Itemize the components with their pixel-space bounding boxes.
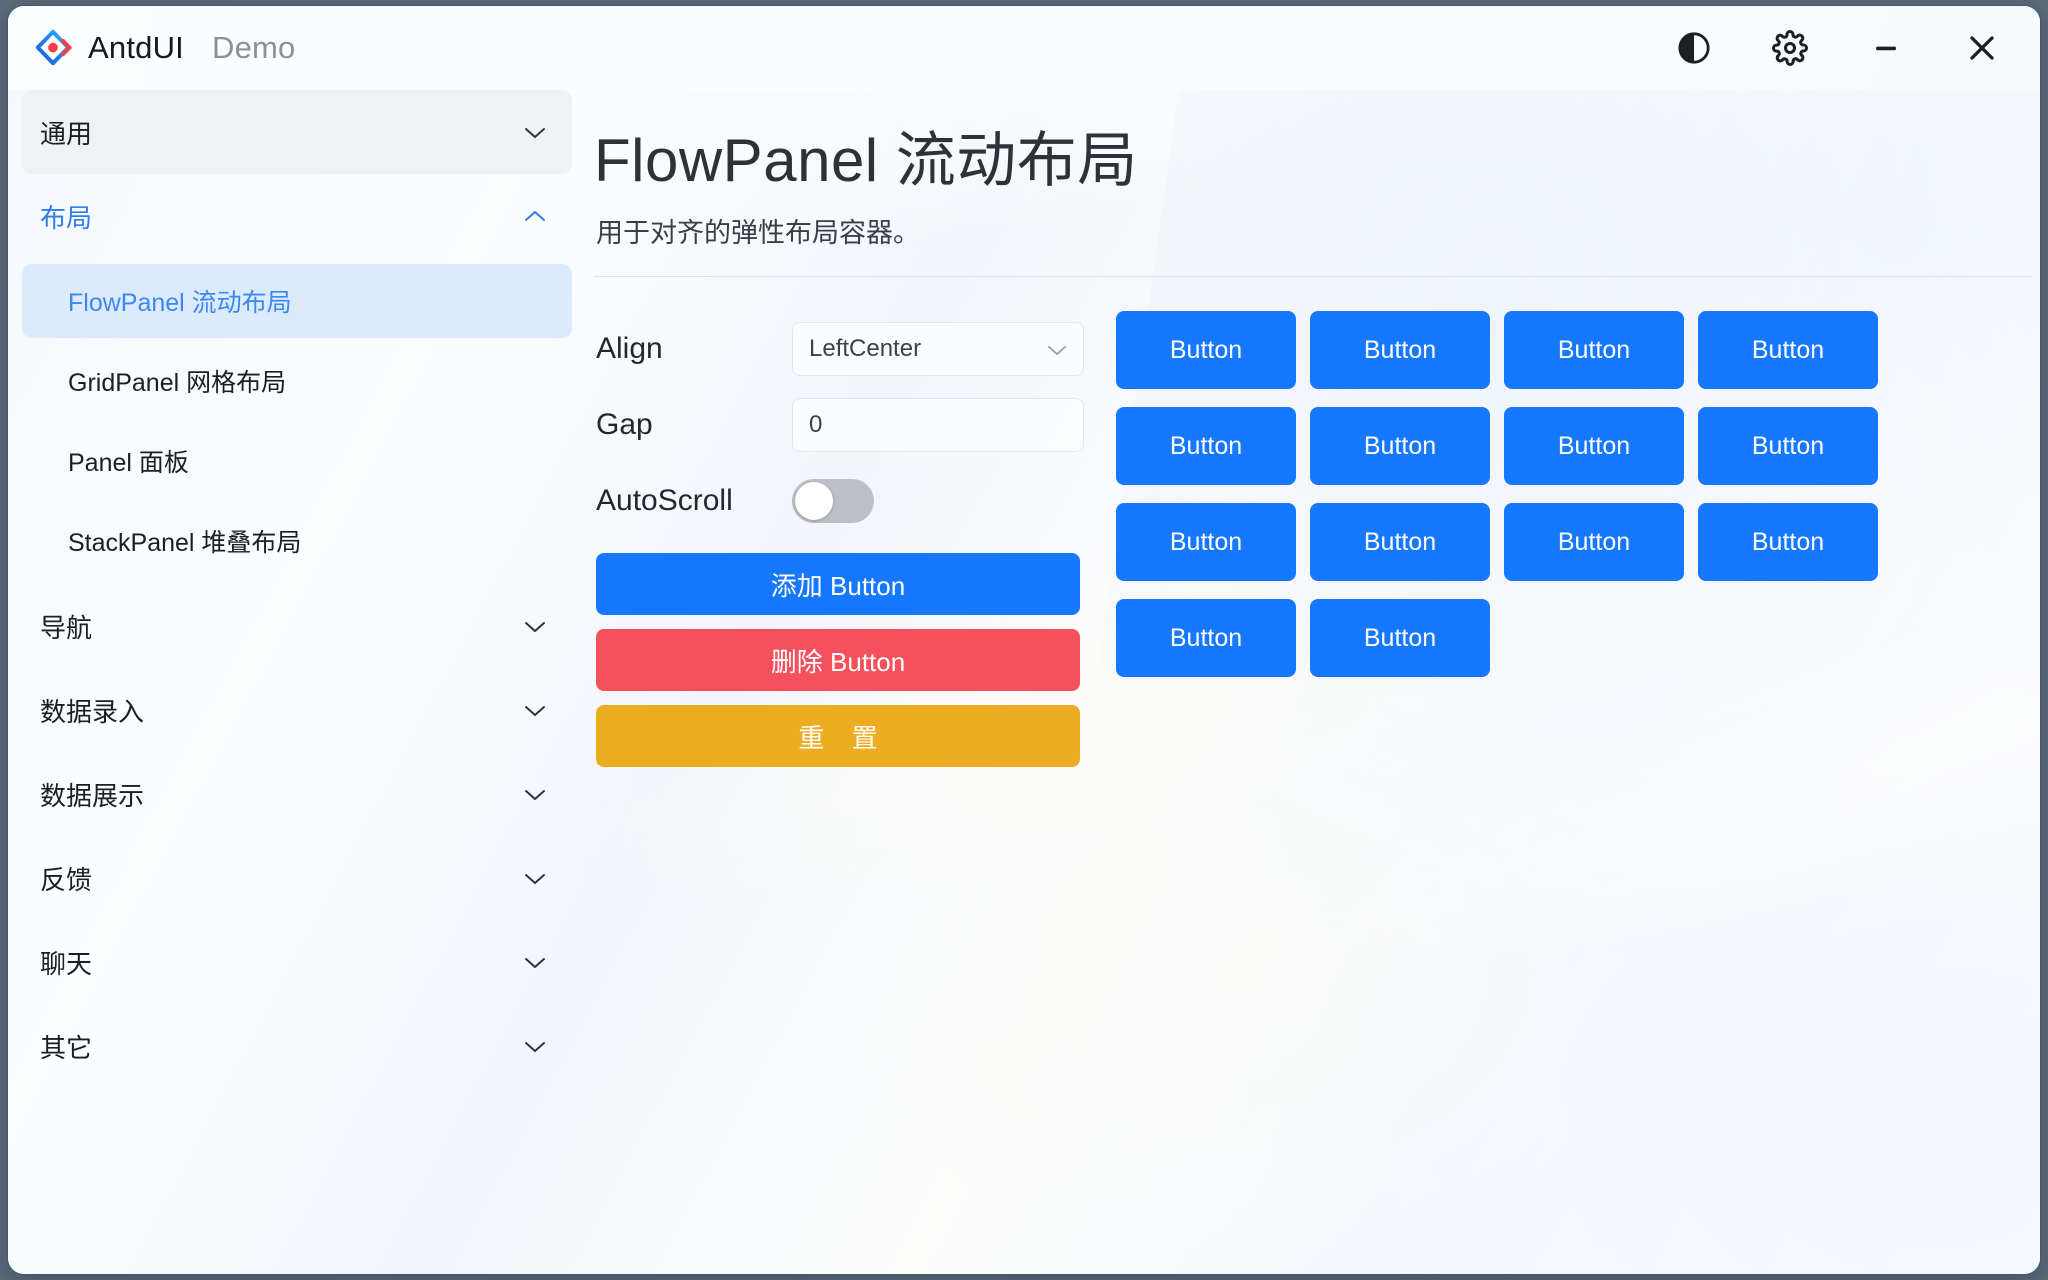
- reset-button[interactable]: 重 置: [596, 705, 1080, 767]
- sidebar-item-label: FlowPanel 流动布局: [68, 283, 292, 319]
- action-buttons: 添加 Button 删除 Button 重 置: [596, 553, 1086, 767]
- flow-button[interactable]: Button: [1116, 311, 1296, 389]
- sidebar-item-label: GridPanel 网格布局: [68, 363, 286, 399]
- brand-suffix: Demo: [212, 30, 296, 66]
- title-bar: AntdUI Demo: [8, 6, 2040, 90]
- sidebar-group-label: 数据展示: [40, 776, 524, 813]
- close-button[interactable]: [1934, 15, 2030, 81]
- flow-button[interactable]: Button: [1116, 407, 1296, 485]
- window-controls: [1646, 15, 2040, 81]
- brand-name: AntdUI: [88, 30, 184, 66]
- sidebar: 通用 布局 FlowPanel 流动布局 GridPanel 网格布局 Pane…: [8, 90, 586, 1274]
- flow-button[interactable]: Button: [1310, 599, 1490, 677]
- sidebar-group-other[interactable]: 其它: [22, 1004, 572, 1088]
- settings-button[interactable]: [1742, 15, 1838, 81]
- antdui-diamond-logo-icon: [34, 29, 72, 67]
- add-button-button[interactable]: 添加 Button: [596, 553, 1080, 615]
- align-select-value: LeftCenter: [809, 335, 1047, 363]
- sidebar-group-data-display[interactable]: 数据展示: [22, 752, 572, 836]
- flow-button[interactable]: Button: [1698, 407, 1878, 485]
- theme-toggle-button[interactable]: [1646, 15, 1742, 81]
- flow-button[interactable]: Button: [1116, 599, 1296, 677]
- sidebar-item-label: Panel 面板: [68, 443, 189, 479]
- sidebar-group-label: 聊天: [40, 944, 524, 981]
- main-content: FlowPanel 流动布局 用于对齐的弹性布局容器。 Align LeftCe…: [586, 90, 2040, 1274]
- chevron-down-icon: [1047, 335, 1067, 363]
- sidebar-group-label: 导航: [40, 608, 524, 645]
- settings-form: Align LeftCenter Gap 0 AutoScroll: [586, 311, 1086, 781]
- sidebar-item-stackpanel[interactable]: StackPanel 堆叠布局: [22, 504, 572, 578]
- gap-label: Gap: [596, 408, 792, 442]
- chevron-down-icon: [524, 872, 546, 885]
- flow-button[interactable]: Button: [1116, 503, 1296, 581]
- toggle-knob: [795, 482, 833, 520]
- gear-icon: [1772, 30, 1808, 66]
- align-row: Align LeftCenter: [596, 311, 1086, 387]
- sidebar-group-label: 其它: [40, 1028, 524, 1065]
- half-circle-contrast-icon: [1677, 31, 1711, 65]
- flow-button[interactable]: Button: [1698, 503, 1878, 581]
- flow-button[interactable]: Button: [1504, 503, 1684, 581]
- autoscroll-row: AutoScroll: [596, 463, 1086, 539]
- sidebar-group-general[interactable]: 通用: [22, 90, 572, 174]
- sidebar-item-label: StackPanel 堆叠布局: [68, 523, 301, 559]
- flow-panel-preview: ButtonButtonButtonButtonButtonButtonButt…: [1086, 311, 2040, 781]
- flow-button[interactable]: Button: [1504, 311, 1684, 389]
- brand: AntdUI Demo: [34, 29, 295, 67]
- chevron-down-icon: [524, 704, 546, 717]
- align-label: Align: [596, 332, 792, 366]
- sidebar-group-layout[interactable]: 布局: [22, 174, 572, 258]
- flow-button[interactable]: Button: [1698, 311, 1878, 389]
- minimize-icon: [1869, 31, 1903, 65]
- app-window: AntdUI Demo: [8, 6, 2040, 1274]
- gap-row: Gap 0: [596, 387, 1086, 463]
- chevron-down-icon: [524, 1040, 546, 1053]
- demo-panel: Align LeftCenter Gap 0 AutoScroll: [586, 277, 2040, 781]
- sidebar-group-label: 数据录入: [40, 692, 524, 729]
- sidebar-group-label: 通用: [40, 114, 524, 151]
- sidebar-group-data-entry[interactable]: 数据录入: [22, 668, 572, 752]
- sidebar-group-feedback[interactable]: 反馈: [22, 836, 572, 920]
- sidebar-group-label: 反馈: [40, 860, 524, 897]
- autoscroll-label: AutoScroll: [596, 484, 792, 518]
- sidebar-group-label: 布局: [40, 198, 524, 235]
- flow-button[interactable]: Button: [1504, 407, 1684, 485]
- sidebar-item-gridpanel[interactable]: GridPanel 网格布局: [22, 344, 572, 418]
- delete-button-button[interactable]: 删除 Button: [596, 629, 1080, 691]
- minimize-button[interactable]: [1838, 15, 1934, 81]
- chevron-down-icon: [524, 126, 546, 139]
- button-grid: ButtonButtonButtonButtonButtonButtonButt…: [1116, 311, 1916, 695]
- align-select[interactable]: LeftCenter: [792, 322, 1084, 376]
- close-icon: [1962, 28, 2002, 68]
- sidebar-group-chat[interactable]: 聊天: [22, 920, 572, 1004]
- sidebar-item-panel[interactable]: Panel 面板: [22, 424, 572, 498]
- gap-input[interactable]: 0: [792, 398, 1084, 452]
- flow-button[interactable]: Button: [1310, 311, 1490, 389]
- page-subtitle: 用于对齐的弹性布局容器。: [596, 211, 2040, 250]
- chevron-down-icon: [524, 620, 546, 633]
- page-title: FlowPanel 流动布局: [594, 112, 2040, 199]
- chevron-down-icon: [524, 788, 546, 801]
- autoscroll-toggle[interactable]: [792, 479, 874, 523]
- chevron-up-icon: [524, 210, 546, 223]
- sidebar-group-navigation[interactable]: 导航: [22, 584, 572, 668]
- flow-button[interactable]: Button: [1310, 407, 1490, 485]
- flow-button[interactable]: Button: [1310, 503, 1490, 581]
- sidebar-item-flowpanel[interactable]: FlowPanel 流动布局: [22, 264, 572, 338]
- chevron-down-icon: [524, 956, 546, 969]
